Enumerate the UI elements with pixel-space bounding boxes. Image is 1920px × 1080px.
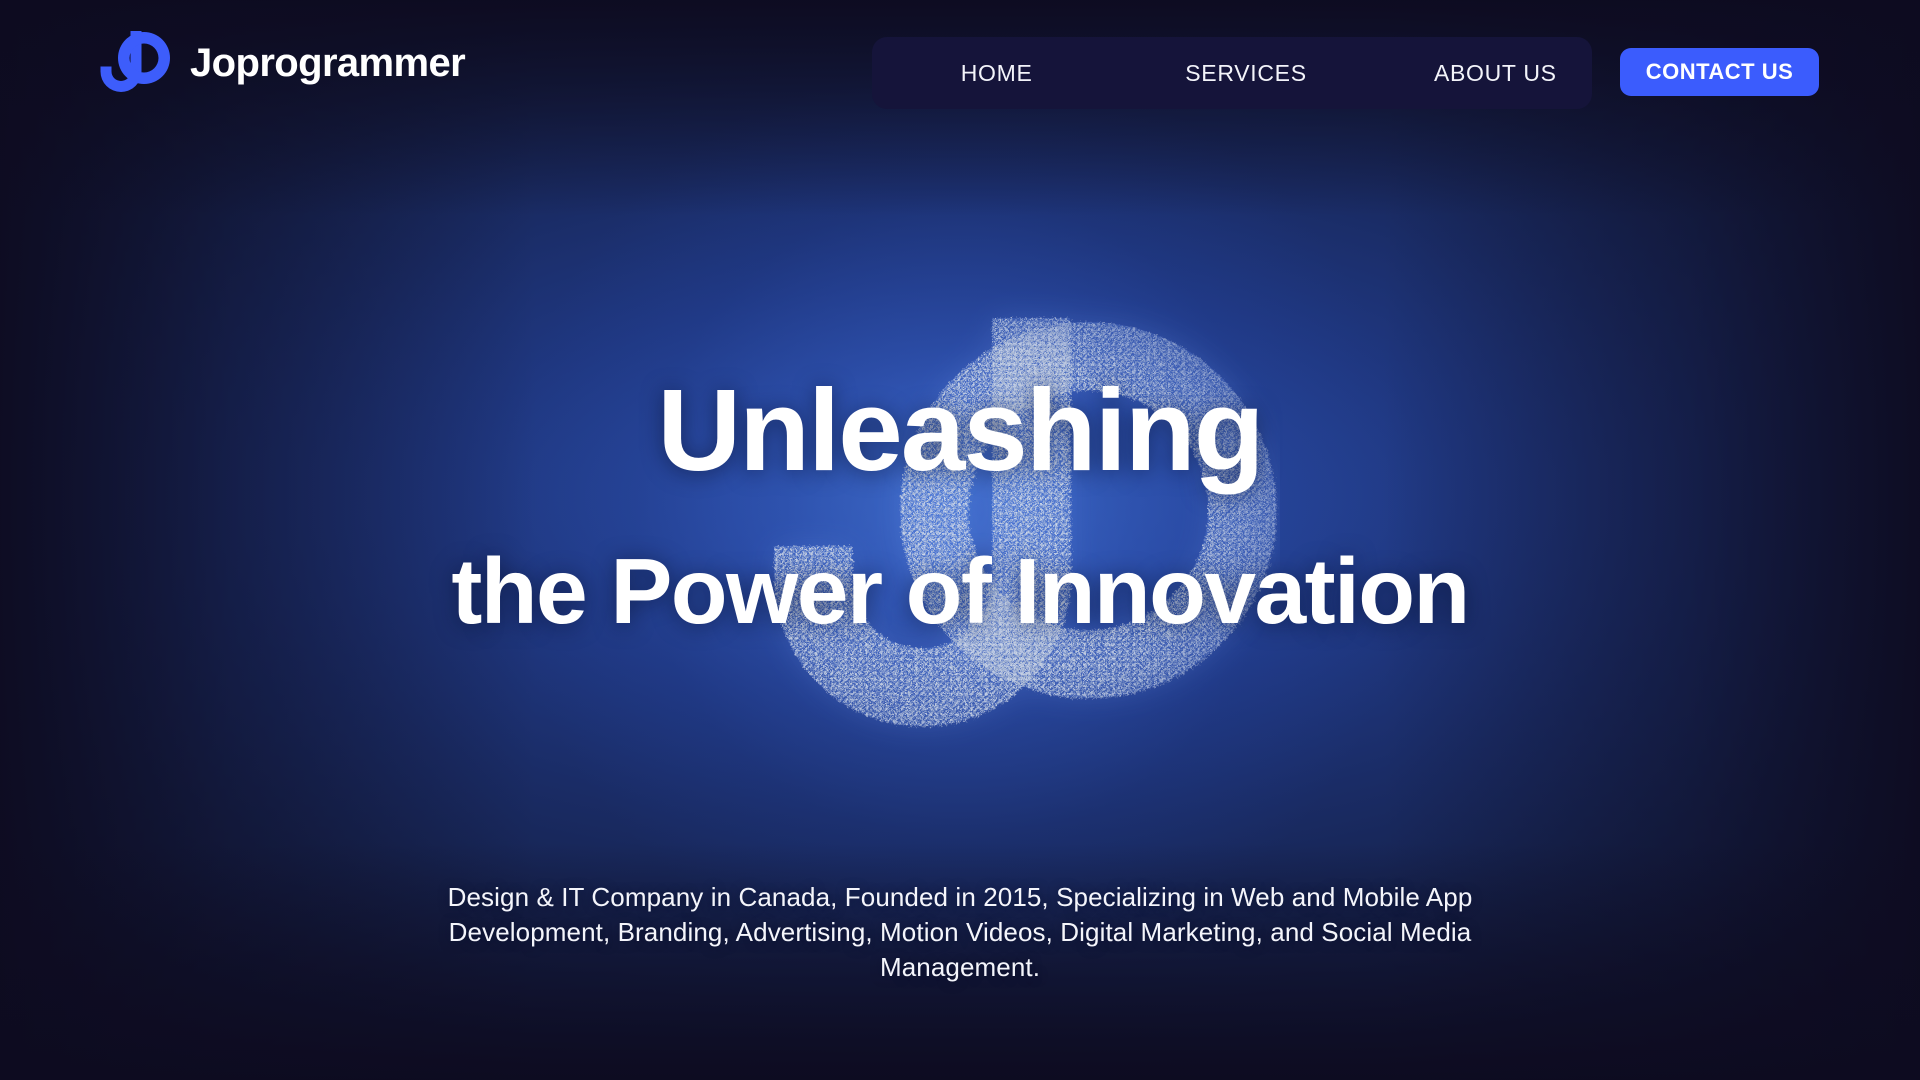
brand-name: Joprogrammer: [190, 43, 465, 83]
primary-navigation: HOME SERVICES ABOUT US: [872, 37, 1620, 109]
nav-item-home[interactable]: HOME: [872, 60, 1121, 87]
jd-particle-monogram-graphic: [640, 278, 1280, 778]
nav-item-about-us[interactable]: ABOUT US: [1371, 60, 1620, 87]
site-header: Joprogrammer HOME SERVICES ABOUT US CONT…: [0, 0, 1920, 145]
jd-monogram-icon: [92, 26, 176, 100]
nav-item-services[interactable]: SERVICES: [1121, 60, 1370, 87]
brand-logo-link[interactable]: Joprogrammer: [92, 26, 465, 100]
hero-page: Unleashing the Power of Innovation Desig…: [0, 0, 1920, 1080]
contact-us-button[interactable]: CONTACT US: [1620, 48, 1819, 96]
